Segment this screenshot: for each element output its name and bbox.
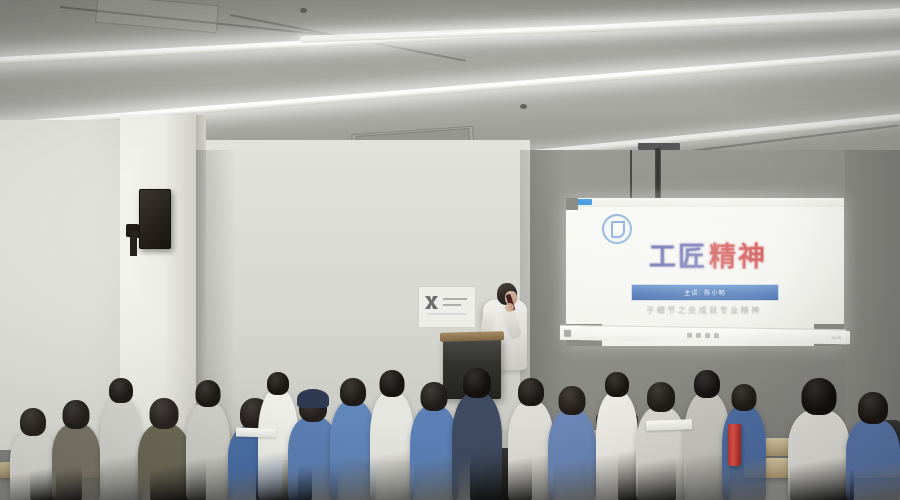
slide-title: 工匠 精神 [618, 242, 798, 272]
poster-text-line [427, 313, 467, 315]
audience-member-torso [596, 392, 638, 500]
presenter-hand [505, 303, 514, 312]
desk-papers [236, 427, 276, 437]
slide-subtitle: 于细节之处成就专业精神 [626, 305, 782, 316]
audience-member-head [380, 370, 405, 397]
slide-content: 工匠 精神 主讲: 陈小明 于细节之处成就专业精神 [566, 206, 844, 324]
smoke-detector [520, 104, 527, 109]
audience-member-head [647, 382, 675, 412]
projection-screen: 工匠 精神 主讲: 陈小明 于细节之处成就专业精神 14:05 [566, 198, 844, 346]
audience-member-torso [138, 424, 190, 500]
wall-mounted-speaker [139, 189, 171, 249]
audience-member [186, 380, 230, 500]
audience-member [596, 372, 638, 500]
audience-member-torso [452, 393, 502, 500]
audience-member-head [732, 384, 757, 411]
slide-title-blue: 工匠 [649, 244, 707, 271]
taskbar-clock: 14:05 [831, 334, 841, 339]
audience-member-head [605, 372, 629, 397]
slide-title-red: 精神 [709, 244, 767, 271]
audience-member-cap [297, 389, 329, 408]
audience-member-torso [52, 424, 100, 500]
audience-member [846, 392, 900, 500]
audience-member-head [421, 382, 448, 411]
taskbar-app-icon[interactable] [705, 333, 710, 338]
audience-member-torso [410, 406, 458, 500]
slide-speaker-banner: 主讲: 陈小明 [631, 284, 779, 301]
audience-member-head [802, 378, 837, 415]
audience-member [10, 408, 56, 500]
audience-member-head [150, 398, 179, 429]
system-tray: 14:05 [831, 334, 841, 339]
audience-member-head [518, 378, 544, 406]
audience-member [370, 370, 414, 500]
taskbar-app-icon[interactable] [687, 332, 692, 337]
taskbar-icon-group [687, 332, 719, 338]
poster-logo-icon [425, 296, 438, 309]
audience-member-head [858, 392, 888, 424]
audience-member [788, 378, 850, 500]
audience-member [548, 386, 596, 500]
lecture-room-photo: 工匠 精神 主讲: 陈小明 于细节之处成就专业精神 14:05 [0, 0, 900, 500]
audience-member [636, 382, 686, 500]
audience-member-torso [370, 392, 414, 500]
audience-member-head [109, 378, 133, 403]
audience-member [452, 368, 502, 500]
audience-member-head [694, 370, 720, 398]
audience-member-torso [548, 410, 596, 500]
start-button-icon[interactable] [564, 329, 571, 336]
far-right-wall [845, 150, 900, 430]
audience-member-head [20, 408, 46, 436]
desk-papers [646, 419, 692, 431]
audience-member-head [196, 380, 221, 407]
audience-member-head [267, 372, 289, 395]
speaker-arm [130, 230, 137, 256]
smoke-detector [300, 8, 307, 13]
audience-member [100, 378, 142, 500]
poster-text-line [443, 298, 467, 300]
audience-member [138, 398, 190, 500]
audience-member-torso [846, 419, 900, 500]
audience-member [410, 382, 458, 500]
taskbar-app-icon[interactable] [714, 333, 719, 338]
audience-member-torso [788, 410, 850, 500]
audience-member-head [463, 368, 491, 398]
audience-member-head [559, 386, 586, 415]
wall-poster [418, 286, 476, 328]
lectern-top [440, 331, 504, 342]
audience-member-head [63, 400, 90, 429]
audience-member-torso [186, 402, 230, 500]
audience-member-torso [100, 398, 142, 500]
taskbar-app-icon[interactable] [696, 332, 701, 337]
circular-blue-logo [602, 214, 632, 244]
audience-member [52, 400, 100, 500]
audience-member-head [340, 378, 366, 406]
audience-member-torso [10, 431, 56, 500]
red-thermos [728, 424, 741, 466]
poster-text-line [443, 304, 461, 306]
